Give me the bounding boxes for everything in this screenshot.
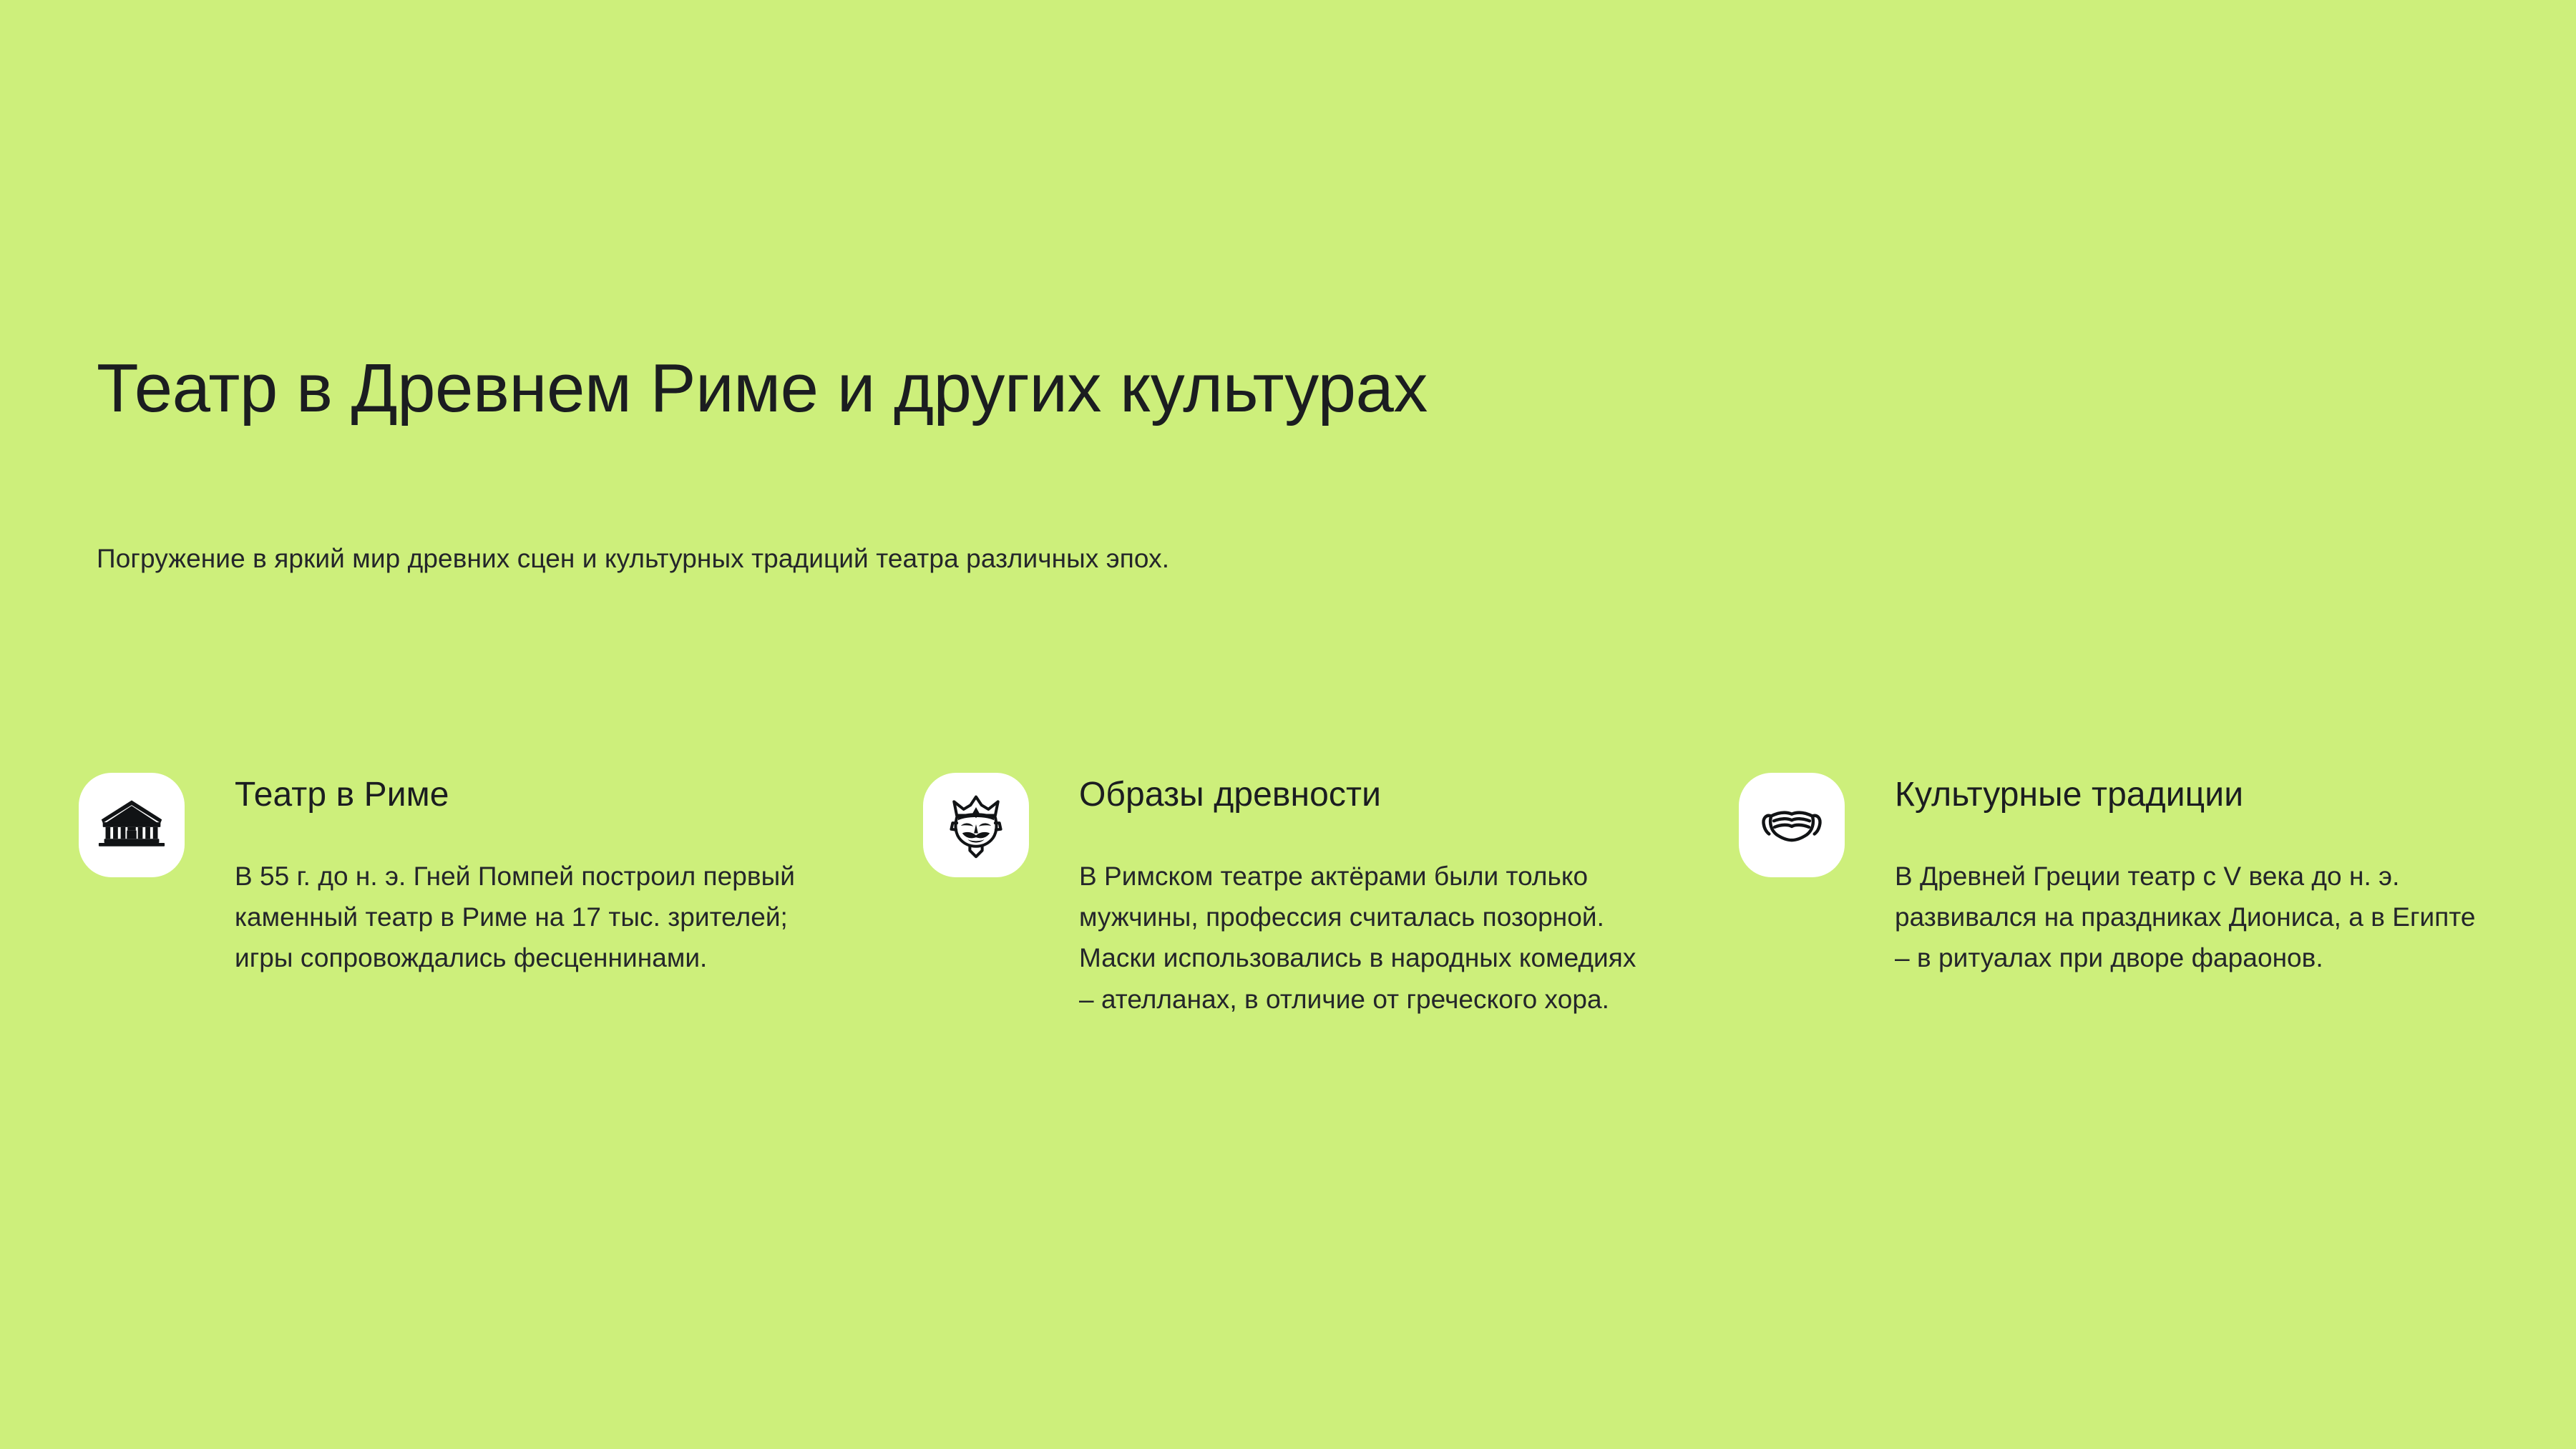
page-subtitle: Погружение в яркий мир древних сцен и ку…: [97, 540, 1169, 577]
face-mask-icon-tile: [1739, 773, 1845, 877]
feature-card-theatre-in-rome: Театр в Риме В 55 г. до н. э. Гней Помпе…: [79, 773, 923, 979]
face-mask-icon: [1757, 791, 1826, 859]
feature-card-text: В Римском театре актёрами были только му…: [1079, 816, 1652, 1020]
page-title: Театр в Древнем Риме и других культурах: [97, 351, 2479, 426]
feature-card-title: Культурные традиции: [1895, 774, 2496, 816]
feature-card-body: Образы древности В Римском театре актёра…: [1029, 773, 1652, 1020]
feature-card-cultural-traditions: Культурные традиции В Древней Греции теа…: [1739, 773, 2497, 979]
feature-card-text: В Древней Греции театр с V века до н. э.…: [1895, 816, 2496, 979]
classical-temple-icon: [97, 791, 166, 859]
feature-card-ancient-images: Образы древности В Римском театре актёра…: [923, 773, 1739, 1020]
feature-card-title: Театр в Риме: [235, 774, 829, 816]
feature-card-list: Театр в Риме В 55 г. до н. э. Гней Помпе…: [79, 773, 2497, 1020]
feature-card-text: В 55 г. до н. э. Гней Помпей построил пе…: [235, 816, 829, 979]
slide-header: Театр в Древнем Риме и других культурах …: [97, 351, 2479, 426]
classical-temple-icon-tile: [79, 773, 185, 877]
feature-card-body: Театр в Риме В 55 г. до н. э. Гней Помпе…: [185, 773, 829, 979]
horned-theatrical-mask-icon-tile: [923, 773, 1029, 877]
horned-theatrical-mask-icon: [942, 791, 1010, 859]
feature-card-body: Культурные традиции В Древней Греции теа…: [1845, 773, 2496, 979]
slide-root: Театр в Древнем Риме и других культурах …: [0, 0, 2576, 1449]
feature-card-title: Образы древности: [1079, 774, 1652, 816]
